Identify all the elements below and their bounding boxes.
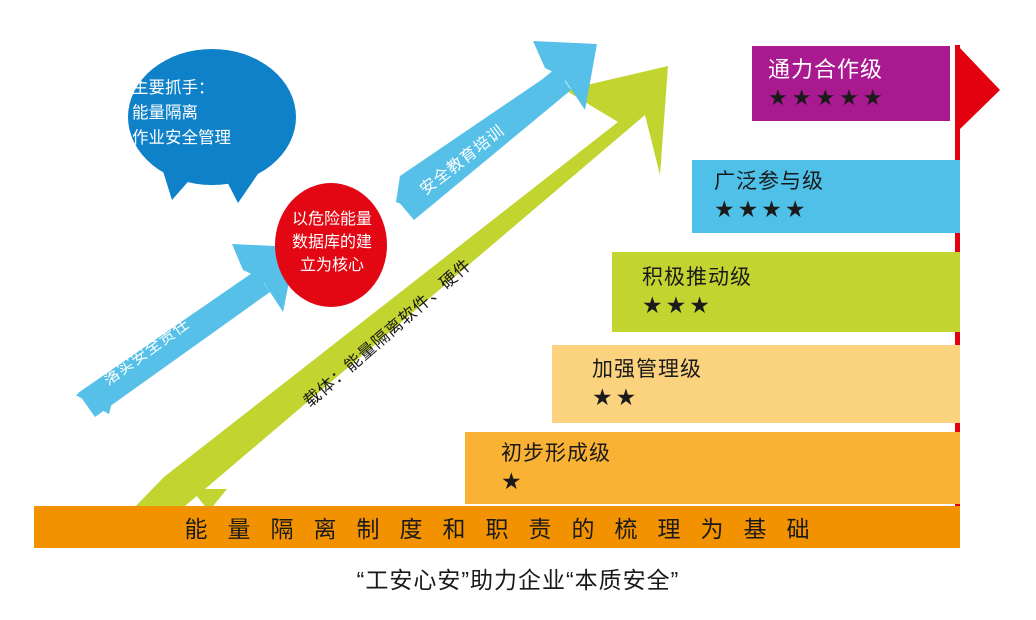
foundation-bar-label: 能量隔离制度和职责的梳理为基础 <box>165 510 830 544</box>
level-bar-3[interactable]: 积极推动级 ★★★ <box>612 252 960 332</box>
circle-line-1: 以危险能量 <box>276 208 388 231</box>
circle-line-3: 立为核心 <box>276 254 388 277</box>
diagram-canvas: 初步形成级 ★ 加强管理级 ★★ 积极推动级 ★★★ 广泛参与级 ★★★★ 通力… <box>0 0 1036 620</box>
level-bar-4[interactable]: 广泛参与级 ★★★★ <box>692 160 960 233</box>
goal-flag <box>955 45 1000 510</box>
arrow-label-training: 安全教育培训 <box>414 118 509 200</box>
level-bar-5[interactable]: 通力合作级 ★★★★★ <box>752 46 950 121</box>
level-bar-1[interactable]: 初步形成级 ★ <box>465 432 960 504</box>
diagram-caption: “工安心安”助力企业“本质安全” <box>0 561 1036 595</box>
bubble-line-2: 能量隔离 <box>132 101 312 126</box>
foundation-bar[interactable]: 能量隔离制度和职责的梳理为基础 <box>34 506 960 548</box>
circle-line-2: 数据库的建 <box>276 231 388 254</box>
level-1-title: 初步形成级 <box>501 442 960 466</box>
level-4-title: 广泛参与级 <box>714 170 960 194</box>
level-bar-2[interactable]: 加强管理级 ★★ <box>552 345 960 423</box>
level-5-stars: ★★★★★ <box>768 85 950 110</box>
level-5-title: 通力合作级 <box>768 57 950 82</box>
level-2-stars: ★★ <box>592 384 960 410</box>
bubble-line-3: 作业安全管理 <box>132 126 312 151</box>
level-2-title: 加强管理级 <box>592 358 960 382</box>
red-circle-text: 以危险能量 数据库的建 立为核心 <box>276 208 388 278</box>
level-4-stars: ★★★★ <box>714 196 960 222</box>
bubble-line-1: 主要抓手： <box>132 76 312 101</box>
level-3-title: 积极推动级 <box>642 266 960 290</box>
arrow-label-responsibility: 落实安全责任 <box>97 310 194 389</box>
speech-bubble-text: 主要抓手： 能量隔离 作业安全管理 <box>132 76 312 151</box>
level-3-stars: ★★★ <box>642 292 960 318</box>
level-1-stars: ★ <box>501 468 960 494</box>
